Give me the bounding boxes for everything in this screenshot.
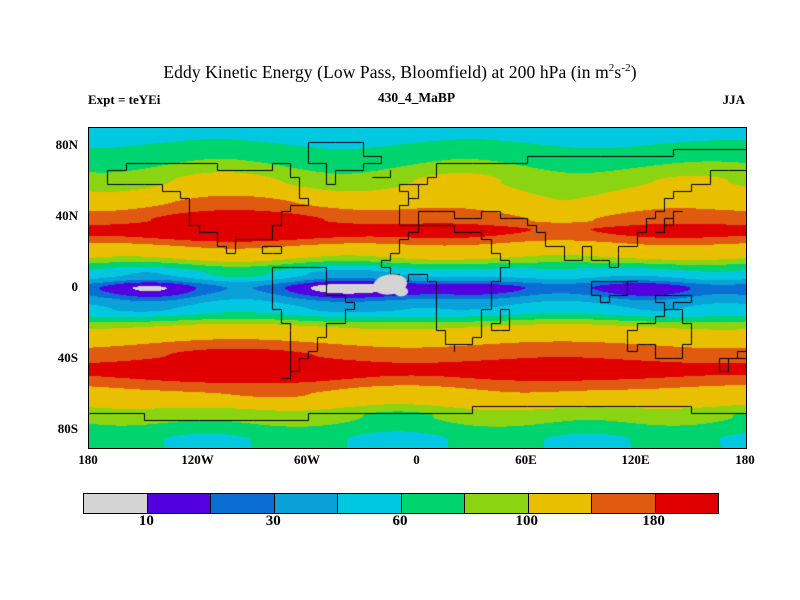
y-axis-tick	[88, 252, 89, 253]
y-axis-tick	[88, 430, 89, 432]
page-title: Eddy Kinetic Energy (Low Pass, Bloomfiel…	[0, 62, 800, 83]
y-axis-tick	[746, 181, 747, 182]
x-axis-tick	[710, 127, 711, 128]
x-axis-tick-label: 180	[78, 452, 98, 468]
colorbar-tick-label: 180	[642, 513, 665, 530]
colorbar-segment-cyan	[337, 494, 401, 513]
y-axis-tick	[88, 395, 89, 396]
colorbar-segment-blue	[210, 494, 274, 513]
y-axis-tick	[746, 324, 747, 325]
y-axis-tick	[88, 324, 89, 325]
title-superscript-b: -2	[621, 62, 630, 74]
x-axis-tick	[345, 448, 346, 449]
x-axis-tick	[272, 127, 273, 128]
y-axis-tick	[746, 359, 747, 361]
x-axis-tick	[454, 448, 455, 449]
x-axis-tick	[235, 127, 236, 128]
x-axis-tick	[199, 127, 201, 128]
y-axis-tick	[88, 217, 89, 219]
x-axis-tick	[673, 127, 674, 128]
colorbar-segment-grey	[84, 494, 147, 513]
y-axis-tick-label: 40S	[32, 350, 78, 366]
season-label: JJA	[723, 92, 745, 108]
y-axis-tick-label: 80S	[32, 421, 78, 437]
x-axis-tick-label: 120W	[181, 452, 214, 468]
x-axis-tick	[564, 448, 565, 449]
x-axis-tick-label: 0	[413, 452, 420, 468]
x-axis-tick	[746, 448, 747, 449]
x-axis-tick	[308, 448, 310, 449]
run-id-label: 430_4_MaBP	[88, 90, 745, 106]
colorbar-tick-label: 30	[266, 513, 281, 530]
x-axis-tick	[89, 127, 91, 128]
x-axis-tick	[89, 448, 91, 449]
colorbar-segment-orange	[591, 494, 655, 513]
x-axis-tick	[491, 127, 492, 128]
colorbar-tick-label: 100	[516, 513, 539, 530]
y-axis-tick	[746, 288, 747, 290]
colorbar-segment-gold	[528, 494, 592, 513]
title-main-text: Eddy Kinetic Energy (Low Pass, Bloomfiel…	[163, 62, 608, 82]
y-axis-tick	[746, 395, 747, 396]
x-axis-tick	[564, 127, 565, 128]
y-axis-tick	[746, 252, 747, 253]
colorbar-segment-medium-blue	[274, 494, 338, 513]
x-axis-tick	[308, 127, 310, 128]
colorbar-segment-red	[655, 494, 719, 513]
x-axis-tick-label: 120E	[621, 452, 649, 468]
y-axis-tick	[88, 288, 89, 290]
y-axis-tick	[88, 359, 89, 361]
x-axis-tick-label: 60E	[515, 452, 537, 468]
colorbar	[83, 493, 719, 514]
x-axis-tick	[454, 127, 455, 128]
x-axis-tick	[199, 448, 201, 449]
colorbar-tick-label: 10	[139, 513, 154, 530]
x-axis-tick	[491, 448, 492, 449]
x-axis-tick	[272, 448, 273, 449]
y-axis-tick	[88, 146, 89, 148]
y-axis-tick	[746, 217, 747, 219]
x-axis-tick	[710, 448, 711, 449]
colorbar-segment-yellow-green	[464, 494, 528, 513]
title-close-paren: )	[631, 62, 637, 82]
y-axis-tick	[746, 430, 747, 432]
x-axis-tick	[381, 127, 382, 128]
y-axis-tick-label: 40N	[32, 208, 78, 224]
x-axis-tick-label: 180	[735, 452, 755, 468]
x-axis-tick	[600, 448, 601, 449]
subtitle-row: Expt = teYEi 430_4_MaBP JJA	[88, 92, 745, 110]
eke-contour-field	[89, 128, 746, 448]
x-axis-tick	[600, 127, 601, 128]
x-axis-tick-label: 60W	[294, 452, 320, 468]
x-axis-tick	[162, 448, 163, 449]
x-axis-tick	[637, 127, 639, 128]
x-axis-tick	[381, 448, 382, 449]
map-plot-area	[88, 127, 747, 449]
x-axis-tick	[126, 448, 127, 449]
x-axis-tick	[418, 448, 420, 449]
colorbar-segment-violet	[147, 494, 211, 513]
x-axis-tick	[637, 448, 639, 449]
x-axis-tick	[527, 127, 529, 128]
x-axis-tick	[527, 448, 529, 449]
x-axis-tick	[673, 448, 674, 449]
x-axis-tick	[162, 127, 163, 128]
x-axis-tick	[418, 127, 420, 128]
x-axis-tick	[345, 127, 346, 128]
x-axis-tick	[746, 127, 747, 128]
colorbar-tick-label: 60	[393, 513, 408, 530]
y-axis-tick-label: 80N	[32, 137, 78, 153]
y-axis-tick	[746, 146, 747, 148]
x-axis-tick	[235, 448, 236, 449]
x-axis-tick	[126, 127, 127, 128]
y-axis-tick	[88, 181, 89, 182]
colorbar-segment-green	[401, 494, 465, 513]
y-axis-tick-label: 0	[32, 279, 78, 295]
